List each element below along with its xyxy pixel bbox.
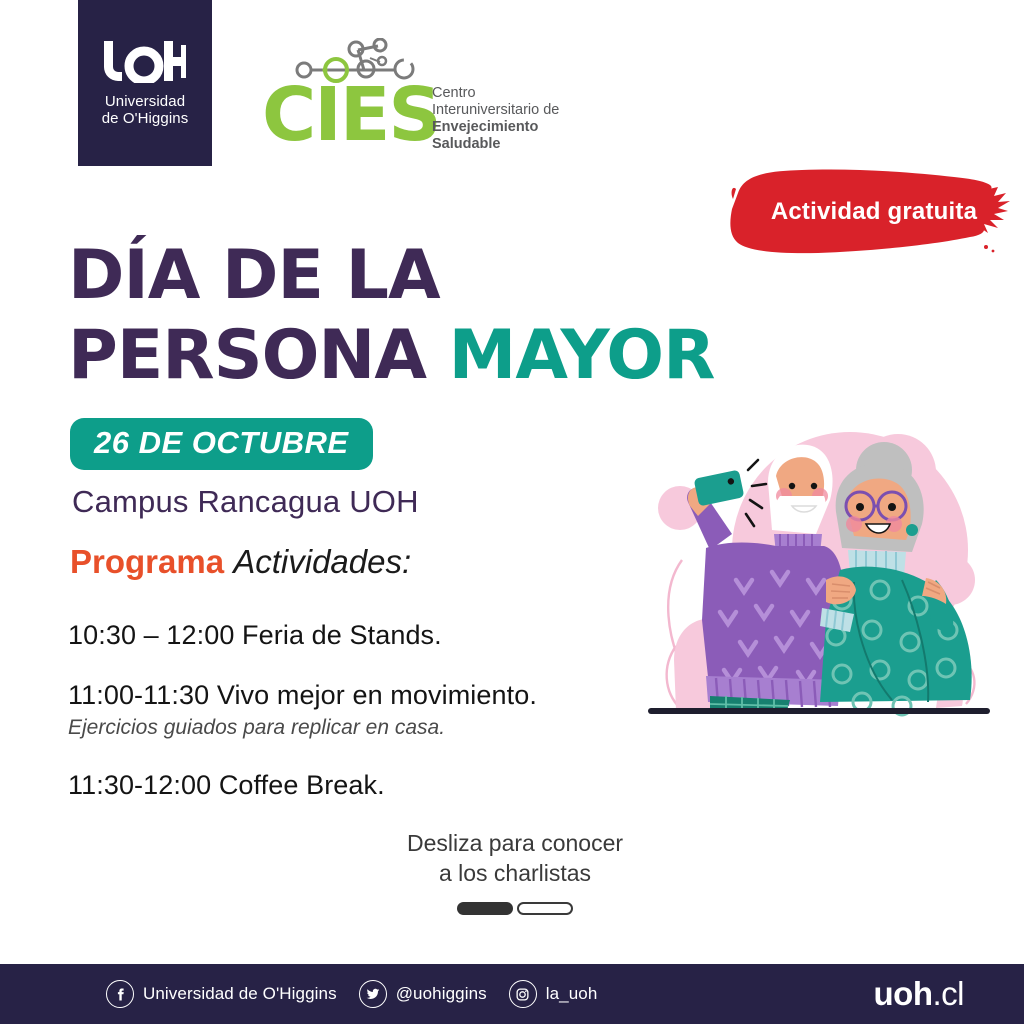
social-link-twitter[interactable]: @uohiggins — [359, 980, 487, 1008]
schedule-item-main: 11:30-12:00 Coffee Break. — [68, 768, 688, 802]
footer-bar: Universidad de O'Higgins @uohiggins — [0, 964, 1024, 1024]
program-heading: Programa Actividades: — [70, 543, 411, 581]
facebook-glyph-icon — [114, 988, 127, 1001]
list-item: 10:30 – 12:00 Feria de Stands. — [68, 618, 688, 652]
free-activity-label: Actividad gratuita — [722, 163, 1012, 261]
headline-mayor: MAYOR — [449, 316, 715, 395]
page-title: DÍA DE LA PERSONA MAYOR — [68, 236, 748, 396]
cies-tagline-line1: Centro — [432, 85, 559, 102]
uoh-name-line2: de O'Higgins — [102, 110, 189, 127]
swipe-hint: Desliza para conocer a los charlistas — [340, 828, 690, 915]
event-venue: Campus Rancagua UOH — [72, 484, 419, 520]
uoh-name: Universidad de O'Higgins — [102, 93, 189, 127]
swipe-hint-line1: Desliza para conocer — [340, 828, 690, 858]
social-link-facebook[interactable]: Universidad de O'Higgins — [106, 980, 337, 1008]
event-date-badge: 26 DE OCTUBRE — [70, 418, 373, 470]
social-links: Universidad de O'Higgins @uohiggins — [106, 980, 619, 1008]
poster-canvas: Universidad de O'Higgins CIES Centro Int… — [0, 0, 1024, 1024]
cies-tagline: Centro Interuniversitario de Envejecimie… — [432, 85, 559, 153]
schedule-item-main: 11:00-11:30 Vivo mejor en movimiento. — [68, 678, 688, 712]
instagram-icon — [509, 980, 537, 1008]
cies-tagline-line3: Envejecimiento — [432, 119, 559, 136]
illustration-svg — [640, 430, 1024, 730]
uoh-wordmark-icon — [102, 39, 188, 83]
site-url-strong: uoh — [874, 975, 933, 1012]
cies-wordmark: CIES — [262, 78, 440, 152]
social-link-instagram[interactable]: la_uoh — [509, 980, 598, 1008]
facebook-icon — [106, 980, 134, 1008]
cies-tagline-line4: Saludable — [432, 136, 559, 153]
schedule-item-note: Ejercicios guiados para replicar en casa… — [68, 714, 688, 742]
social-label-twitter: @uohiggins — [396, 984, 487, 1004]
pagination-dot-active[interactable] — [457, 902, 513, 915]
swipe-hint-line2: a los charlistas — [340, 858, 690, 888]
pagination-dot-inactive[interactable] — [517, 902, 573, 915]
cies-logo: CIES Centro Interuniversitario de Enveje… — [262, 38, 612, 156]
elderly-couple-selfie-illustration — [640, 430, 1024, 730]
program-activities-label: Actividades: — [233, 543, 411, 580]
headline-line-1: DÍA DE LA — [68, 236, 748, 316]
cies-tagline-line2: Interuniversitario de — [432, 102, 559, 119]
list-item: 11:30-12:00 Coffee Break. — [68, 768, 688, 802]
uoh-logo-block: Universidad de O'Higgins — [78, 0, 212, 166]
headline-persona: PERSONA — [68, 316, 449, 395]
carousel-pagination[interactable] — [340, 902, 690, 915]
twitter-icon — [359, 980, 387, 1008]
social-label-facebook: Universidad de O'Higgins — [143, 984, 337, 1004]
social-label-instagram: la_uoh — [546, 984, 598, 1004]
uoh-name-line1: Universidad — [102, 93, 189, 110]
list-item: 11:00-11:30 Vivo mejor en movimiento. Ej… — [68, 678, 688, 742]
instagram-glyph-icon — [516, 988, 529, 1001]
site-url-brand[interactable]: uoh.cl — [874, 975, 964, 1013]
schedule-list: 10:30 – 12:00 Feria de Stands. 11:00-11:… — [68, 618, 688, 828]
site-url-light: .cl — [933, 975, 965, 1012]
free-activity-badge: Actividad gratuita — [722, 163, 1012, 261]
twitter-bird-glyph-icon — [366, 987, 380, 1001]
program-word: Programa — [70, 543, 224, 580]
headline-line-2: PERSONA MAYOR — [68, 316, 748, 396]
schedule-item-main: 10:30 – 12:00 Feria de Stands. — [68, 618, 688, 652]
